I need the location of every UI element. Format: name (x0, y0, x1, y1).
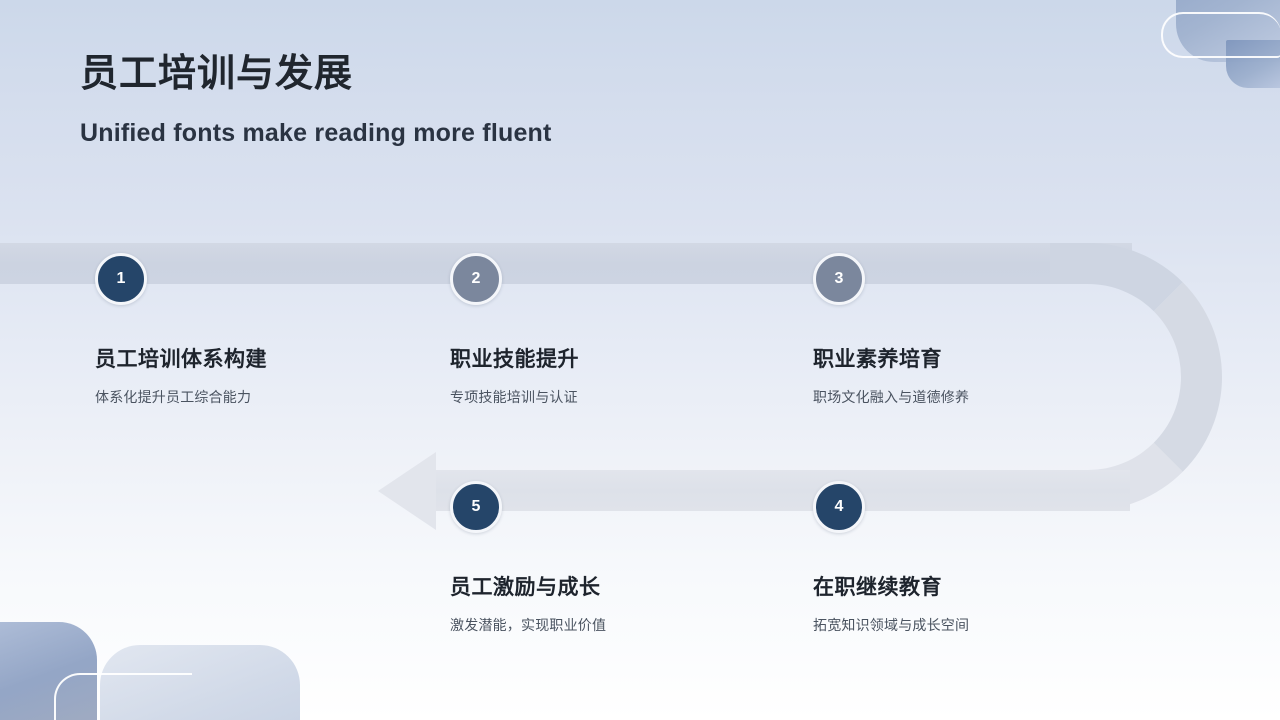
step-badge-4: 4 (813, 481, 865, 533)
decor-bottom-left-light-block (100, 645, 300, 720)
step-desc-4: 拓宽知识领域与成长空间 (813, 615, 969, 635)
flow-step-2[interactable]: 2 职业技能提升 专项技能培训与认证 (450, 253, 579, 407)
step-desc-1: 体系化提升员工综合能力 (95, 387, 267, 407)
decor-bottom-left-outline (54, 673, 192, 720)
flow-step-4[interactable]: 4 在职继续教育 拓宽知识领域与成长空间 (813, 481, 969, 635)
step-number-1: 1 (117, 270, 126, 288)
step-number-2: 2 (472, 270, 481, 288)
step-desc-2: 专项技能培训与认证 (450, 387, 579, 407)
step-desc-3: 职场文化融入与道德修养 (813, 387, 969, 407)
step-title-1: 员工培训体系构建 (95, 343, 267, 373)
step-title-4: 在职继续教育 (813, 571, 969, 601)
step-badge-5: 5 (450, 481, 502, 533)
flow-step-5[interactable]: 5 员工激励与成长 激发潜能，实现职业价值 (450, 481, 606, 635)
step-title-2: 职业技能提升 (450, 343, 579, 373)
step-title-3: 职业素养培育 (813, 343, 969, 373)
slide-header: 员工培训与发展 Unified fonts make reading more … (80, 52, 552, 148)
step-badge-1: 1 (95, 253, 147, 305)
step-number-3: 3 (835, 270, 844, 288)
page-subtitle: Unified fonts make reading more fluent (80, 118, 552, 148)
step-number-5: 5 (472, 498, 481, 516)
decor-top-right-small-block (1226, 40, 1280, 88)
decor-top-right-outline (1161, 12, 1280, 58)
step-number-4: 4 (835, 498, 844, 516)
step-title-5: 员工激励与成长 (450, 571, 606, 601)
step-desc-5: 激发潜能，实现职业价值 (450, 615, 606, 635)
left-arrow-icon (378, 452, 436, 530)
decor-top-right-block (1176, 0, 1280, 62)
flow-step-1[interactable]: 1 员工培训体系构建 体系化提升员工综合能力 (95, 253, 267, 407)
step-badge-3: 3 (813, 253, 865, 305)
flow-step-3[interactable]: 3 职业素养培育 职场文化融入与道德修养 (813, 253, 969, 407)
decor-bottom-left-block (0, 622, 97, 720)
page-title: 员工培训与发展 (80, 52, 552, 98)
slide-canvas: 员工培训与发展 Unified fonts make reading more … (0, 0, 1280, 720)
step-badge-2: 2 (450, 253, 502, 305)
